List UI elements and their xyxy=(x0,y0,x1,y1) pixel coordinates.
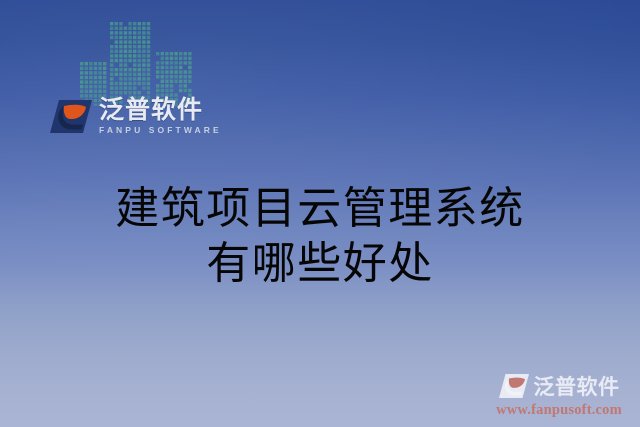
watermark-url: www.fanpusoft.com xyxy=(486,402,632,419)
brand-name-en: FANPU SOFTWARE xyxy=(99,126,222,135)
page-title-line-2: 有哪些好处 xyxy=(0,237,640,292)
fanpu-logo-icon xyxy=(50,100,92,133)
brand-logo: 泛普软件 FANPU SOFTWARE xyxy=(50,98,222,135)
watermark: 泛普软件 www.fanpusoft.com xyxy=(486,371,632,419)
brand-name-cn: 泛普软件 xyxy=(99,98,222,123)
poster-canvas: 泛普软件 FANPU SOFTWARE 建筑项目云管理系统 有哪些好处 泛普软件… xyxy=(0,0,640,427)
fanpu-watermark-logo-icon xyxy=(499,374,529,398)
watermark-logo-row: 泛普软件 xyxy=(486,371,632,401)
page-title-line-1: 建筑项目云管理系统 xyxy=(0,182,640,237)
brand-wordmark: 泛普软件 FANPU SOFTWARE xyxy=(99,98,222,135)
page-title: 建筑项目云管理系统 有哪些好处 xyxy=(0,182,640,291)
pixel-city-skyline-icon xyxy=(78,14,214,106)
watermark-name-cn: 泛普软件 xyxy=(534,371,620,401)
